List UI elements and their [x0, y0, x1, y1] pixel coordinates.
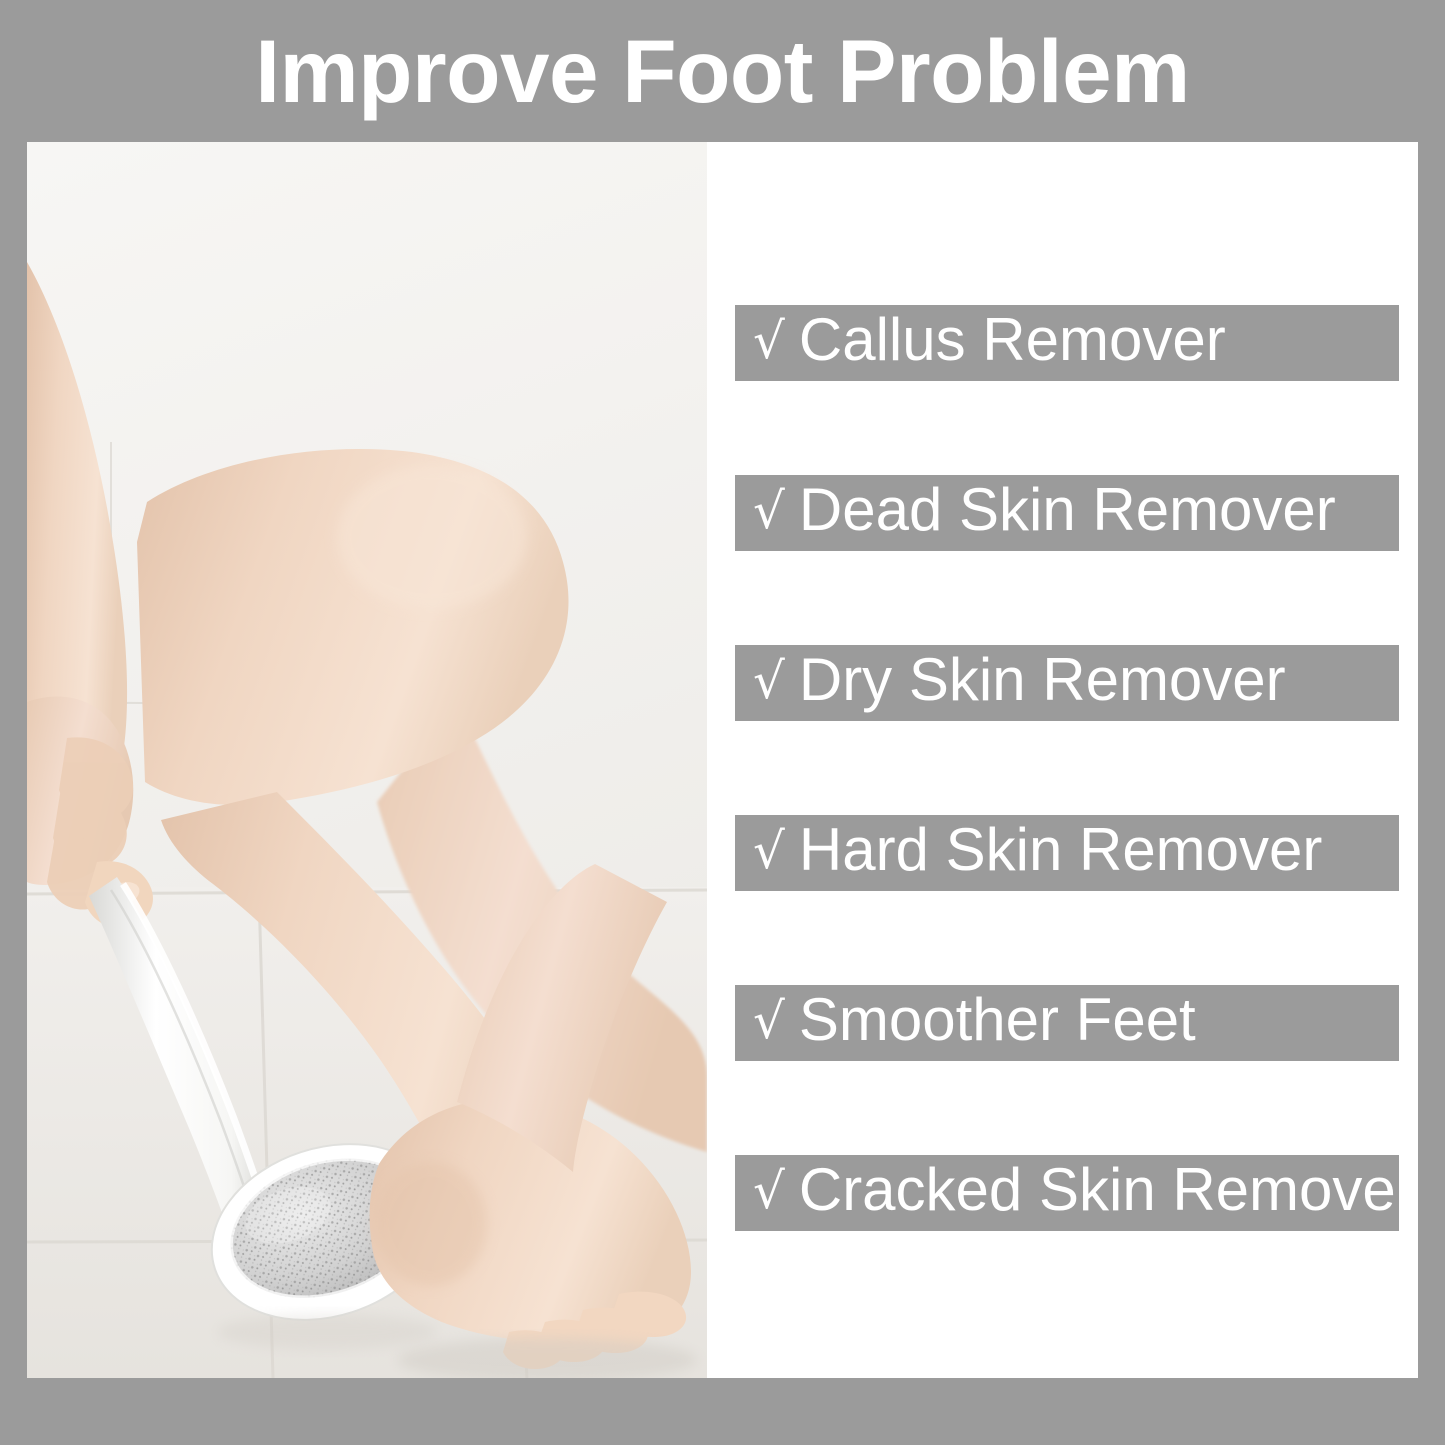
feature-label: Callus Remover	[799, 310, 1226, 370]
title-band: Improve Foot Problem	[0, 0, 1445, 142]
feature-label: Dead Skin Remover	[799, 480, 1336, 540]
feature-label: Hard Skin Remover	[799, 820, 1323, 880]
product-infographic: Improve Foot Problem	[0, 0, 1445, 1445]
feature-item-callus-remover[interactable]: √ Callus Remover	[735, 305, 1399, 381]
check-icon: √	[753, 486, 785, 536]
content-panel: √ Callus Remover √ Dead Skin Remover √ D…	[27, 142, 1418, 1378]
feature-item-smoother-feet[interactable]: √ Smoother Feet	[735, 985, 1399, 1061]
feature-list: √ Callus Remover √ Dead Skin Remover √ D…	[735, 142, 1418, 1378]
foot-care-photo-illustration	[27, 142, 707, 1378]
feature-label: Dry Skin Remover	[799, 650, 1286, 710]
check-icon: √	[753, 316, 785, 366]
check-icon: √	[753, 656, 785, 706]
feature-item-dry-skin-remover[interactable]: √ Dry Skin Remover	[735, 645, 1399, 721]
check-icon: √	[753, 826, 785, 876]
page-title: Improve Foot Problem	[255, 27, 1190, 116]
feature-item-cracked-skin-remover[interactable]: √ Cracked Skin Remover	[735, 1155, 1399, 1231]
feature-item-dead-skin-remover[interactable]: √ Dead Skin Remover	[735, 475, 1399, 551]
check-icon: √	[753, 996, 785, 1046]
feature-label: Smoother Feet	[799, 990, 1196, 1050]
check-icon: √	[753, 1166, 785, 1216]
product-photo	[27, 142, 707, 1378]
feature-item-hard-skin-remover[interactable]: √ Hard Skin Remover	[735, 815, 1399, 891]
feature-label: Cracked Skin Remover	[799, 1160, 1416, 1220]
